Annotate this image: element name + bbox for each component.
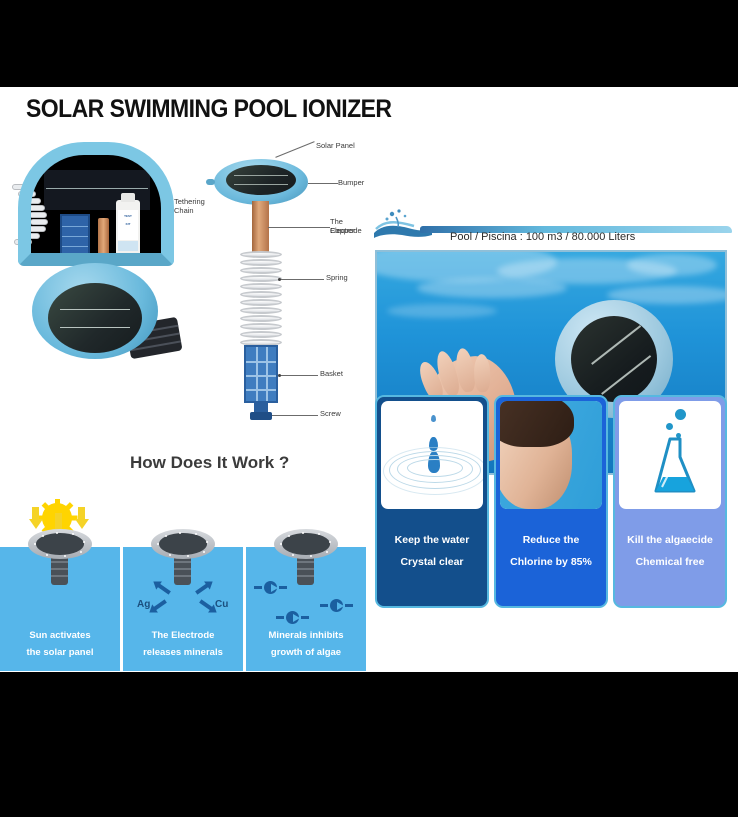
algae-cell-1 (264, 581, 277, 594)
how-it-works-steps: Sun activates the solar panel (0, 499, 366, 671)
feature-card-2-line1: Reduce the (496, 529, 606, 551)
step2-stem (174, 555, 191, 585)
flask-icon (619, 401, 721, 509)
leader-line-spring (280, 279, 324, 280)
feature-card-reduce-chlorine: Reduce the Chlorine by 85% (494, 395, 608, 608)
label-screw: Screw (320, 409, 341, 418)
label-spring: Spring (326, 273, 348, 282)
step1-disk-dots (28, 529, 92, 559)
step1-stem (51, 555, 68, 585)
step-sun-activates: Sun activates the solar panel (0, 499, 120, 671)
angled-blue-ring (32, 263, 158, 359)
ion-label-copper: Cu (215, 599, 228, 610)
diagram-basket (244, 345, 278, 403)
diagram-chain-nub (206, 179, 215, 185)
algae-cell-3 (286, 611, 299, 624)
step1-line2: the solar panel (0, 644, 120, 661)
infographic-canvas: SOLAR SWIMMING POOL IONIZER TESTKIT (0, 0, 738, 817)
step1-caption: Sun activates the solar panel (0, 627, 120, 661)
exploded-diagram: Solar Panel Bumper Tethering Chain The C… (196, 139, 366, 479)
feature-card-1-text: Keep the water Crystal clear (377, 513, 487, 606)
diagram-spring (240, 251, 282, 347)
face-photo (500, 401, 602, 509)
woman-hair (500, 401, 574, 447)
diagram-screw (254, 401, 268, 415)
feature-card-1-line2: Crystal clear (377, 551, 487, 573)
leader-line-copper (268, 227, 330, 228)
label-tethering-chain-line2: Chain (174, 206, 194, 215)
feature-card-2-text: Reduce the Chlorine by 85% (496, 513, 606, 606)
leader-line-bumper (308, 183, 338, 184)
step3-line2: growth of algae (246, 644, 366, 661)
leader-dot-spring (278, 278, 281, 281)
step-minerals-inhibit: Minerals inhibits growth of algae (246, 499, 366, 671)
step2-caption: The Electrode releases minerals (123, 627, 243, 661)
label-basket: Basket (320, 369, 343, 378)
diagram-solar-panel (226, 165, 296, 195)
step2-disk-dots (151, 529, 215, 559)
step3-disk-dots (274, 529, 338, 559)
water-splash-icon (372, 207, 434, 241)
label-solar-panel: Solar Panel (316, 141, 355, 150)
leader-line-screw (272, 415, 318, 416)
pool-capacity-text: Pool / Piscina : 100 m3 / 80.000 Liters (450, 231, 635, 243)
label-copper-electrode-line2: Electrode (330, 226, 362, 235)
leader-line-basket (280, 375, 318, 376)
feature-card-3-line2: Chemical free (615, 551, 725, 573)
step2-line2: releases minerals (123, 644, 243, 661)
feature-card-1-line1: Keep the water (377, 529, 487, 551)
feature-card-3-text: Kill the algaecide Chemical free (615, 513, 725, 606)
feature-card-kill-algaecide: Kill the algaecide Chemical free (613, 395, 727, 608)
step3-caption: Minerals inhibits growth of algae (246, 627, 366, 661)
water-drop-icon (381, 401, 483, 509)
step1-line1: Sun activates (0, 627, 120, 644)
step2-line1: The Electrode (123, 627, 243, 644)
product-package-photo: TESTKIT (18, 142, 178, 272)
step3-line1: Minerals inhibits (246, 627, 366, 644)
feature-cards: Keep the water Crystal clear Reduce the … (375, 395, 727, 608)
leader-line-solar-panel (275, 141, 314, 158)
feature-card-2-line2: Chlorine by 85% (496, 551, 606, 573)
diagram-copper-electrode (252, 201, 269, 257)
step-electrode-releases: Ag Cu The Electrode releases minerals (123, 499, 243, 671)
leader-dot-basket (278, 374, 281, 377)
product-angled-photo (32, 255, 182, 375)
diagram-bumper (214, 159, 308, 205)
pool-capacity-banner: Pool / Piscina : 100 m3 / 80.000 Liters (372, 207, 732, 249)
how-it-works-heading: How Does It Work ? (130, 453, 289, 473)
step3-stem (297, 555, 314, 585)
page-title: SOLAR SWIMMING POOL IONIZER (26, 95, 391, 124)
package-blue-ring (18, 142, 174, 266)
feature-card-crystal-clear: Keep the water Crystal clear (375, 395, 489, 608)
feature-card-3-line1: Kill the algaecide (615, 529, 725, 551)
angled-solar-panel (48, 283, 142, 353)
ion-label-silver: Ag (137, 599, 150, 610)
label-bumper: Bumper (338, 178, 364, 187)
algae-cell-2 (330, 599, 343, 612)
label-tethering-chain: Tethering (174, 197, 205, 206)
content-area: SOLAR SWIMMING POOL IONIZER TESTKIT (0, 87, 738, 672)
